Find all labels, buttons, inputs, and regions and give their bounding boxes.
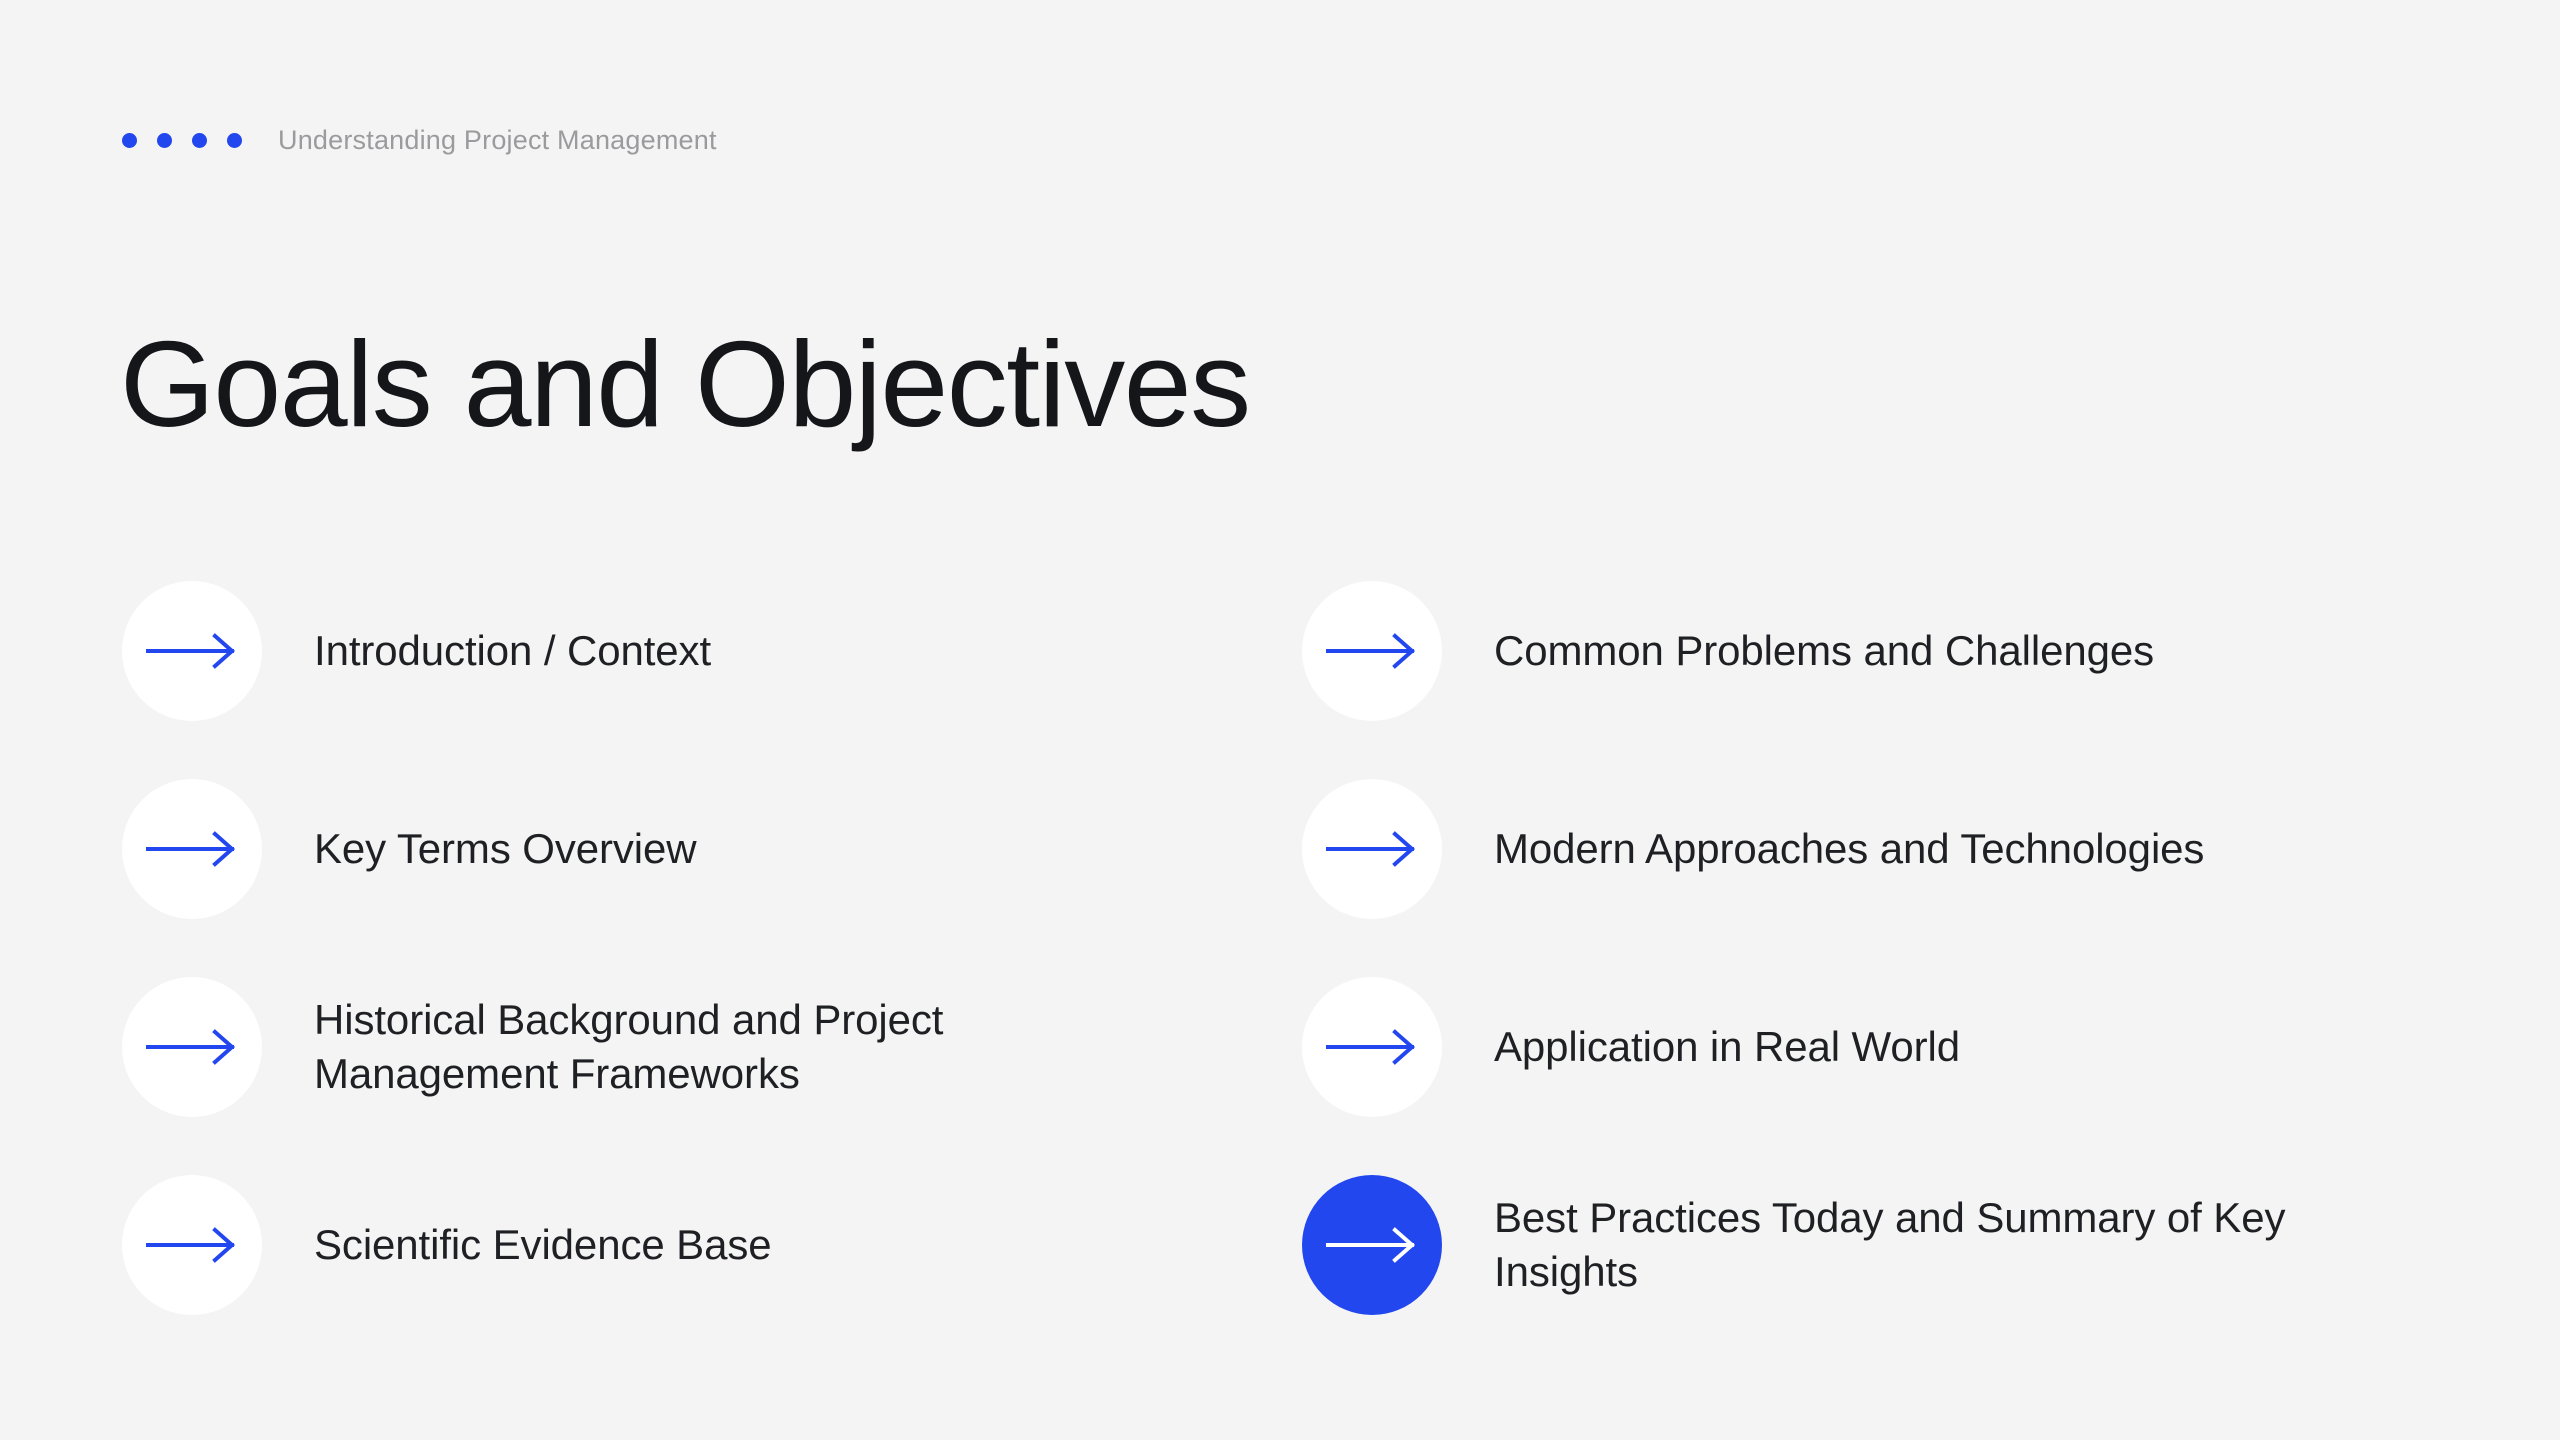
agenda-item-label: Application in Real World [1494,1020,1960,1074]
agenda-item[interactable]: Key Terms Overview [122,779,1222,919]
arrow-right-icon [122,581,262,721]
agenda-item[interactable]: Application in Real World [1302,977,2402,1117]
agenda-item-label: Common Problems and Challenges [1494,624,2154,678]
dot-icon [192,133,207,148]
agenda-columns: Introduction / Context Key Terms Overvie… [0,560,2560,1360]
agenda-item-label: Historical Background and Project Manage… [314,993,1084,1101]
arrow-right-icon [122,779,262,919]
arrow-right-icon [1302,1175,1442,1315]
dot-icon [157,133,172,148]
arrow-right-icon [1302,581,1442,721]
arrow-right-icon [1302,977,1442,1117]
agenda-item-active[interactable]: Best Practices Today and Summary of Key … [1302,1175,2402,1315]
page-title: Goals and Objectives [120,320,1250,448]
agenda-item[interactable]: Historical Background and Project Manage… [122,977,1222,1117]
arrow-right-icon [122,977,262,1117]
arrow-right-icon [122,1175,262,1315]
agenda-item-label: Scientific Evidence Base [314,1218,772,1272]
agenda-item[interactable]: Introduction / Context [122,581,1222,721]
agenda-item[interactable]: Common Problems and Challenges [1302,581,2402,721]
agenda-item-label: Best Practices Today and Summary of Key … [1494,1191,2394,1299]
arrow-right-icon [1302,779,1442,919]
dot-group-icon [122,133,242,148]
agenda-item-label: Introduction / Context [314,624,711,678]
slide-canvas: Understanding Project Management Goals a… [0,0,2560,1440]
agenda-item[interactable]: Scientific Evidence Base [122,1175,1222,1315]
eyebrow-label: Understanding Project Management [278,127,717,154]
agenda-item-label: Modern Approaches and Technologies [1494,822,2204,876]
dot-icon [122,133,137,148]
agenda-item-label: Key Terms Overview [314,822,697,876]
slide-eyebrow: Understanding Project Management [122,120,717,160]
dot-icon [227,133,242,148]
agenda-item[interactable]: Modern Approaches and Technologies [1302,779,2402,919]
